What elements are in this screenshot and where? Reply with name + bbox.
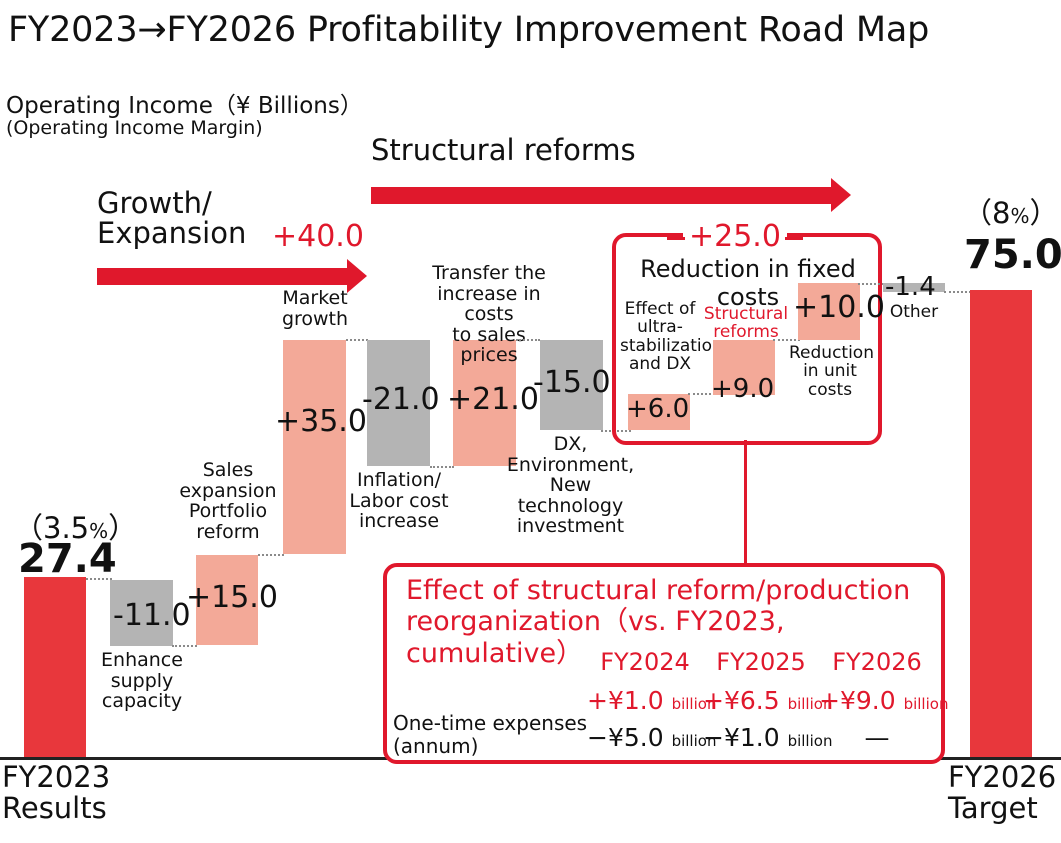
callout-year-fy2026: FY2026 [822, 648, 932, 676]
structural-reforms-arrow-icon [371, 178, 851, 212]
callout-cumulative-fy2025: +¥6.5 billion [703, 686, 819, 715]
axis-label-fy2026: FY2026 Target [948, 762, 1056, 824]
connector-line [346, 339, 368, 341]
caption-market-growth: Market growth [268, 288, 362, 329]
fy2026-margin-label: （8%） [963, 190, 1059, 232]
caption-reduction-unit-costs: Reduction in unit costs [789, 344, 871, 399]
value-transfer-cost-to-prices: +21.0 [447, 382, 539, 417]
value-enhance-supply-capacity: -11.0 [113, 598, 191, 633]
callout-year-fy2024: FY2024 [590, 648, 700, 676]
connector-line [86, 578, 112, 580]
callout-cumulative-fy2026: +¥9.0 billion [819, 686, 935, 715]
growth-label-line2: Expansion [97, 219, 246, 249]
axis-unit-label: Operating Income（¥ Billions） [6, 86, 363, 120]
value-inflation-labor-cost: -21.0 [362, 382, 440, 417]
caption-inflation-labor-cost: Inflation/ Labor cost increase [348, 470, 450, 532]
waterfall-chart-slide: FY2023→FY2026 Profitability Improvement … [0, 0, 1061, 843]
connector-line [258, 554, 284, 556]
caption-dx-environment-investment: DX, Environment, New technology investme… [503, 434, 638, 537]
axis-unit-sublabel: (Operating Income Margin) [6, 117, 263, 139]
callout-onetime-fy2024: −¥5.0 billion [587, 723, 703, 752]
growth-expansion-value: +40.0 [272, 219, 364, 254]
connector-line [430, 466, 454, 468]
connector-line [858, 283, 884, 285]
fy2023-value-label: 27.4 [18, 536, 117, 582]
callout-onetime-expenses-label: One-time expenses (annum) [393, 712, 587, 758]
bar-fy2026-target [970, 290, 1032, 757]
callout-onetime-fy2026: — [819, 723, 935, 752]
value-reduction-unit-costs: +10.0 [793, 290, 885, 325]
caption-ultra-stabilization-dx: Effect of ultra- stabilization and DX [620, 300, 700, 373]
caption-enhance-supply-capacity: Enhance supply capacity [96, 650, 188, 712]
value-other: -1.4 [885, 272, 936, 302]
callout-year-fy2025: FY2025 [706, 648, 816, 676]
connector-line [944, 291, 971, 293]
caption-transfer-cost-to-prices: Transfer the increase in costs to sales … [427, 263, 551, 366]
reduction-fixed-costs-amount: +25.0 [683, 219, 787, 254]
caption-other: Other [883, 303, 945, 321]
callout-onetime-fy2025: −¥1.0 billion [703, 723, 819, 752]
axis-label-fy2023: FY2023 Results [2, 762, 110, 824]
value-sales-expansion: +15.0 [186, 580, 278, 615]
value-market-growth: +35.0 [275, 404, 367, 439]
bar-market-growth [283, 340, 346, 554]
bar-fy2023-results [24, 577, 86, 757]
growth-label-line1: Growth/ [97, 189, 246, 219]
fy2026-value-label: 75.0 [964, 232, 1061, 278]
connector-line [172, 645, 197, 647]
page-title: FY2023→FY2026 Profitability Improvement … [8, 10, 929, 50]
callout-leader-line [744, 440, 747, 565]
connector-line [773, 339, 800, 341]
caption-sales-expansion: Sales expansion Portfolio reform [174, 460, 282, 542]
value-ultra-stabilization-dx: +6.0 [626, 394, 689, 424]
value-dx-environment-investment: -15.0 [533, 365, 611, 400]
growth-expansion-arrow-label: Growth/ Expansion [97, 189, 246, 248]
structural-reforms-arrow-label: Structural reforms [371, 136, 636, 166]
connector-line [516, 339, 540, 341]
caption-structural-reforms: Structural reforms [700, 305, 792, 342]
callout-cumulative-fy2024: +¥1.0 billion [587, 686, 703, 715]
value-structural-reforms: +9.0 [711, 374, 774, 404]
